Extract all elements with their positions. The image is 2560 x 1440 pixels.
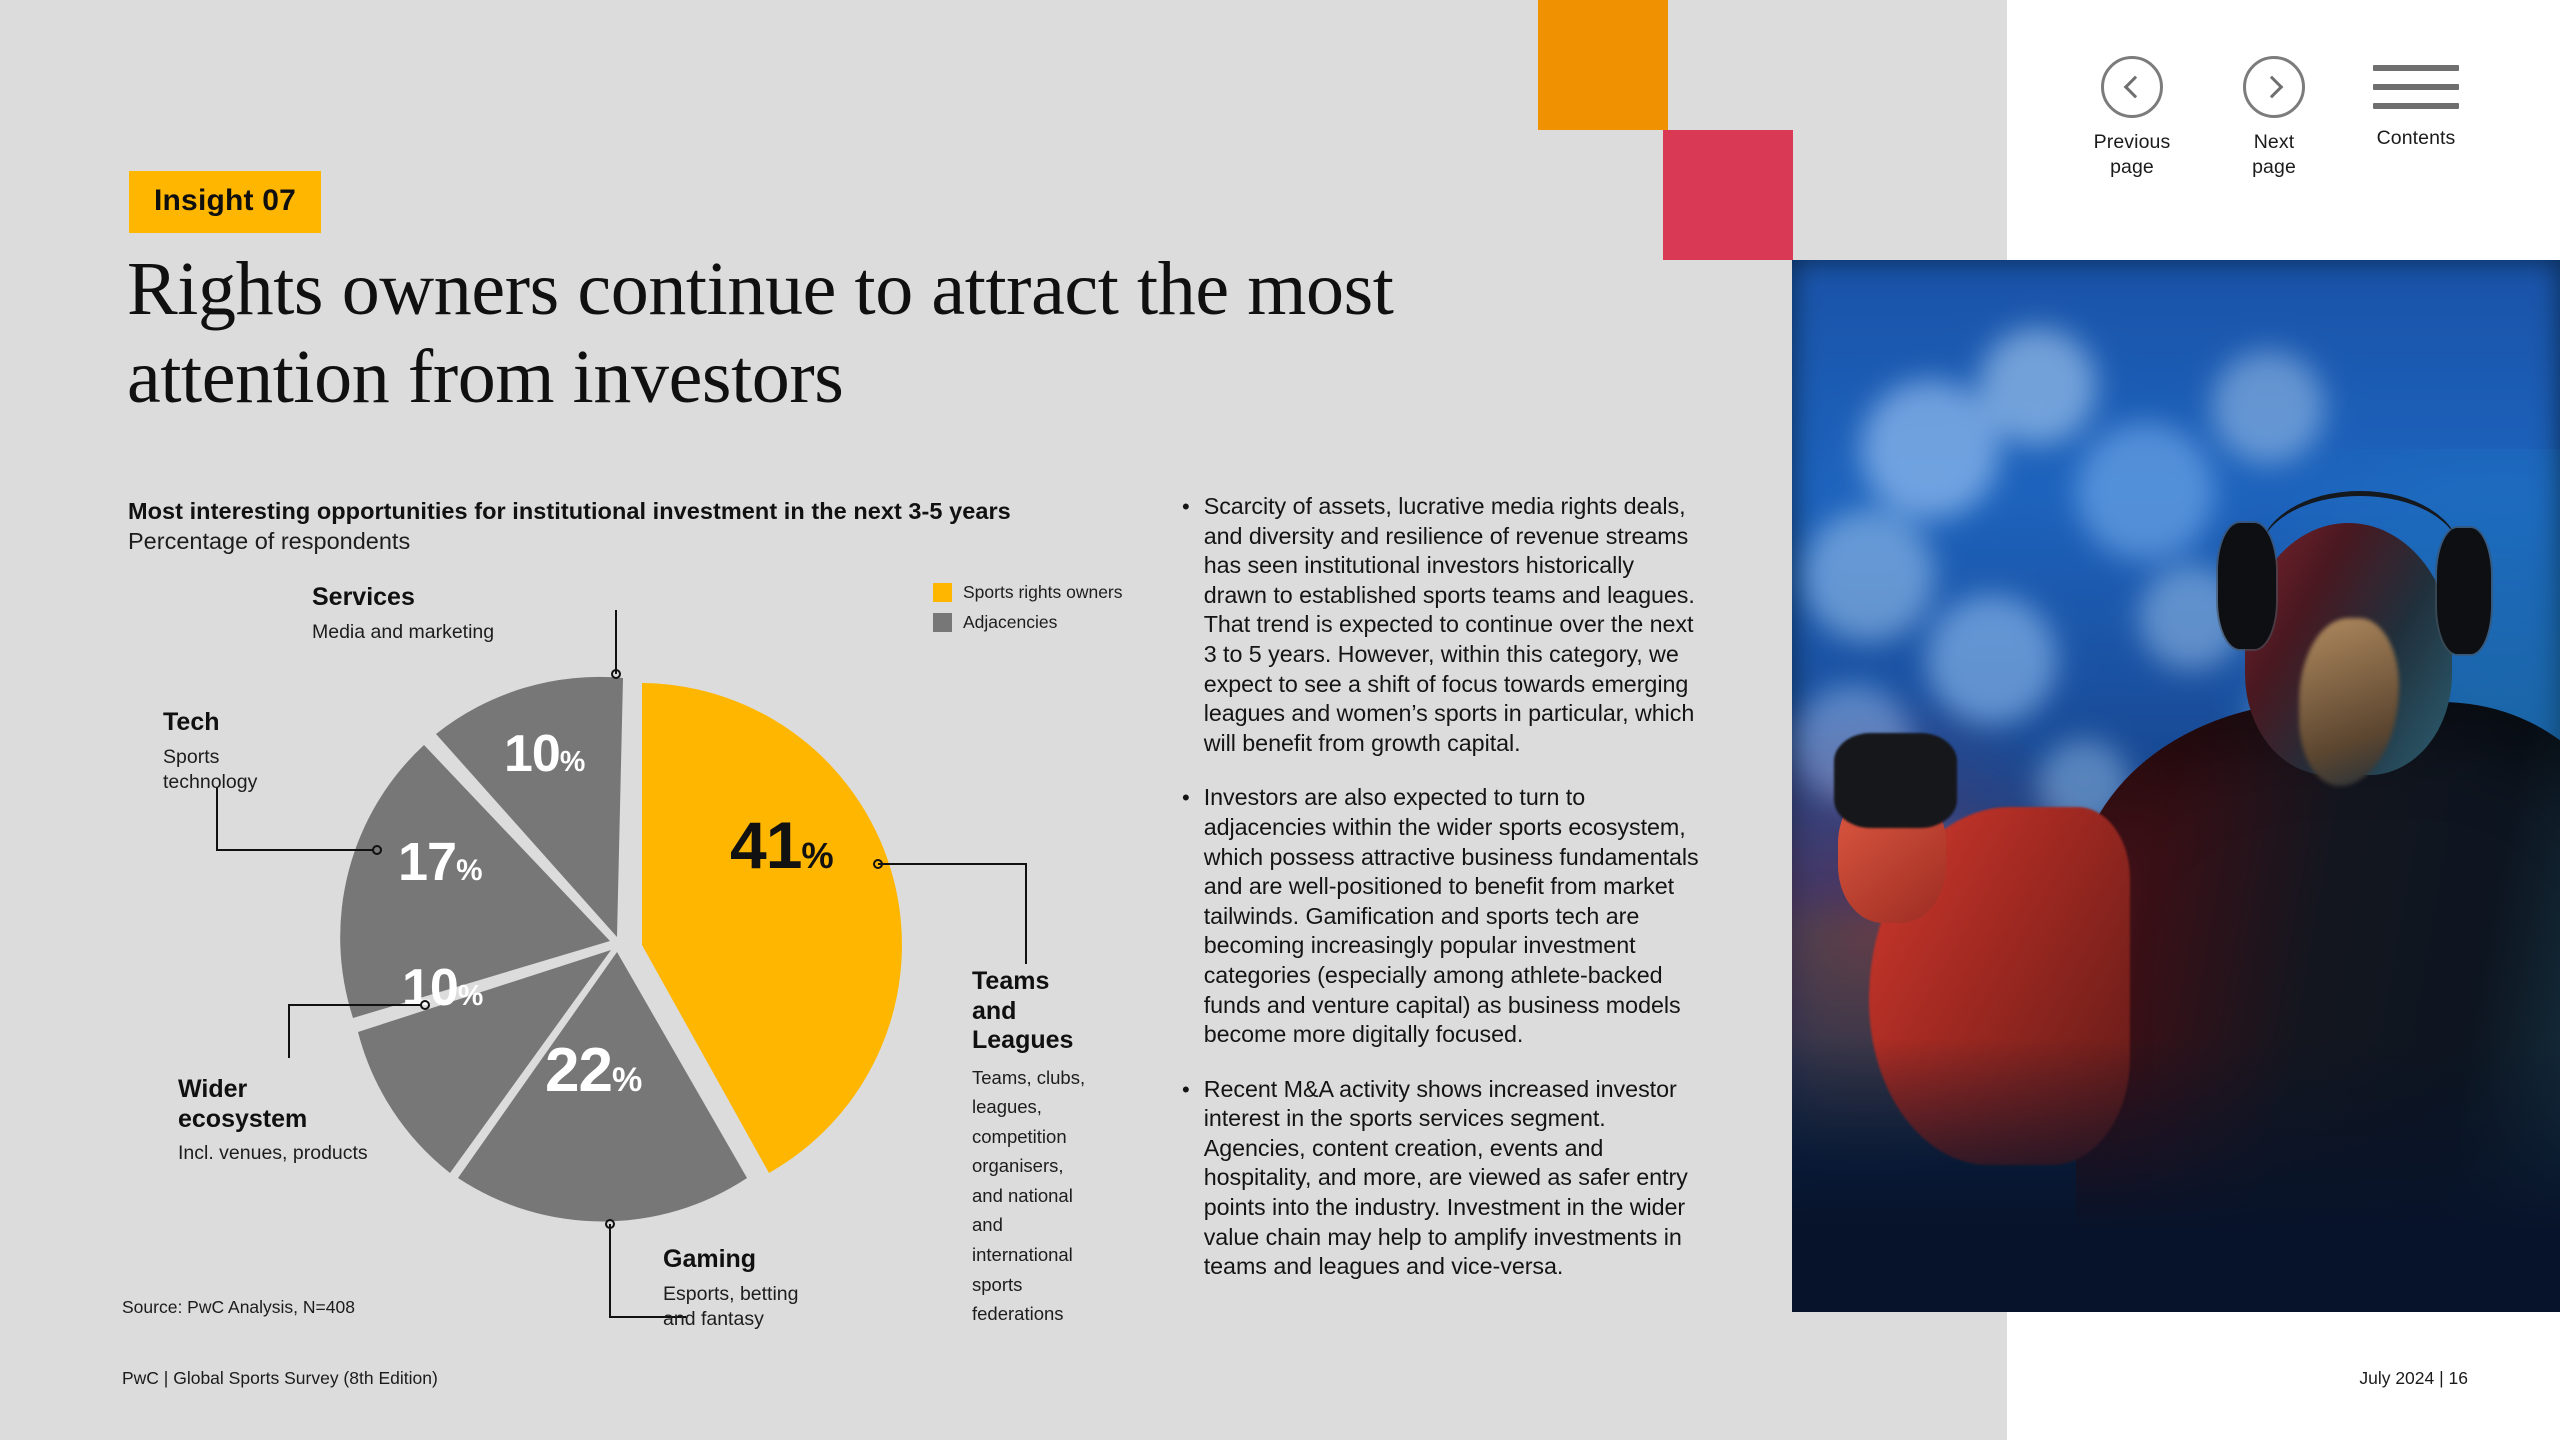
callout-teams-and-leagues: Teams and Leagues Teams, clubs, leagues,… bbox=[972, 967, 1122, 1329]
decor-square-pink bbox=[1663, 130, 1793, 260]
footer-left: PwC | Global Sports Survey (8th Edition) bbox=[122, 1368, 438, 1389]
insight-bullets: • Scarcity of assets, lucrative media ri… bbox=[1182, 492, 1702, 1307]
callout-sub: Sports technology bbox=[163, 745, 257, 796]
previous-page-label: Previous page bbox=[2094, 130, 2171, 180]
bullet-marker-icon: • bbox=[1182, 783, 1190, 1049]
bullet-item: • Scarcity of assets, lucrative media ri… bbox=[1182, 492, 1702, 758]
leader-line-teams bbox=[874, 860, 1034, 970]
callout-wider-ecosystem: Wider ecosystem Incl. venues, products bbox=[178, 1075, 368, 1167]
callout-sub: Media and marketing bbox=[312, 620, 494, 646]
callout-title: Tech bbox=[163, 708, 257, 738]
hamburger-menu-icon bbox=[2373, 56, 2459, 114]
bullet-marker-icon: • bbox=[1182, 492, 1190, 758]
callout-sub: Teams, clubs, leagues, competition organ… bbox=[972, 1063, 1122, 1329]
bullet-item: • Recent M&A activity shows increased in… bbox=[1182, 1075, 1702, 1282]
callout-gaming: Gaming Esports, betting and fantasy bbox=[663, 1245, 799, 1333]
chevron-right-icon bbox=[2243, 56, 2305, 118]
decor-square-orange bbox=[1538, 0, 1668, 130]
pie-slices bbox=[340, 677, 902, 1222]
callout-sub: Esports, betting and fantasy bbox=[663, 1282, 799, 1333]
photo-game-controller bbox=[1834, 733, 1957, 828]
bullet-marker-icon: • bbox=[1182, 1075, 1190, 1282]
footer-right: July 2024 | 16 bbox=[2359, 1368, 2468, 1389]
bullet-text: Scarcity of assets, lucrative media righ… bbox=[1204, 492, 1702, 758]
headphone-cup-right-icon bbox=[2437, 528, 2491, 654]
contents-label: Contents bbox=[2377, 126, 2456, 151]
pie-value-teams: 41% bbox=[730, 812, 833, 878]
callout-title: Services bbox=[312, 583, 494, 613]
pie-value-tech: 17% bbox=[398, 835, 482, 889]
leader-line-wider bbox=[287, 1000, 437, 1060]
pie-value-gaming: 22% bbox=[545, 1040, 642, 1102]
callout-services: Services Media and marketing bbox=[312, 583, 494, 645]
headphone-cup-left-icon bbox=[2218, 523, 2276, 649]
chart-subtitle: Percentage of respondents bbox=[128, 528, 1188, 555]
insight-badge: Insight 07 bbox=[129, 171, 321, 233]
callout-sub: Incl. venues, products bbox=[178, 1141, 368, 1167]
callout-title: Teams and Leagues bbox=[972, 967, 1122, 1056]
slide-page: Previous page Next page Contents Insight… bbox=[0, 0, 2560, 1440]
chevron-left-icon bbox=[2101, 56, 2163, 118]
callout-tech: Tech Sports technology bbox=[163, 708, 257, 796]
page-title: Rights owners continue to attract the mo… bbox=[127, 245, 1547, 421]
esports-gamer-photo bbox=[1792, 260, 2560, 1312]
photo-vignette bbox=[1792, 1038, 2560, 1312]
pie-value-services: 10% bbox=[504, 728, 585, 780]
leader-line-services bbox=[540, 608, 620, 678]
next-page-label: Next page bbox=[2252, 130, 2296, 180]
bullet-item: • Investors are also expected to turn to… bbox=[1182, 783, 1702, 1049]
bullet-text: Investors are also expected to turn to a… bbox=[1204, 783, 1702, 1049]
chart-heading: Most interesting opportunities for insti… bbox=[128, 498, 1188, 555]
next-page-button[interactable]: Next page bbox=[2222, 56, 2326, 180]
previous-page-button[interactable]: Previous page bbox=[2080, 56, 2184, 180]
bullet-text: Recent M&A activity shows increased inve… bbox=[1204, 1075, 1702, 1282]
chart-title: Most interesting opportunities for insti… bbox=[128, 498, 1188, 525]
contents-button[interactable]: Contents bbox=[2364, 56, 2468, 151]
page-navigation: Previous page Next page Contents bbox=[2080, 56, 2468, 180]
callout-title: Gaming bbox=[663, 1245, 799, 1275]
callout-title: Wider ecosystem bbox=[178, 1075, 368, 1134]
chart-source: Source: PwC Analysis, N=408 bbox=[122, 1297, 355, 1318]
